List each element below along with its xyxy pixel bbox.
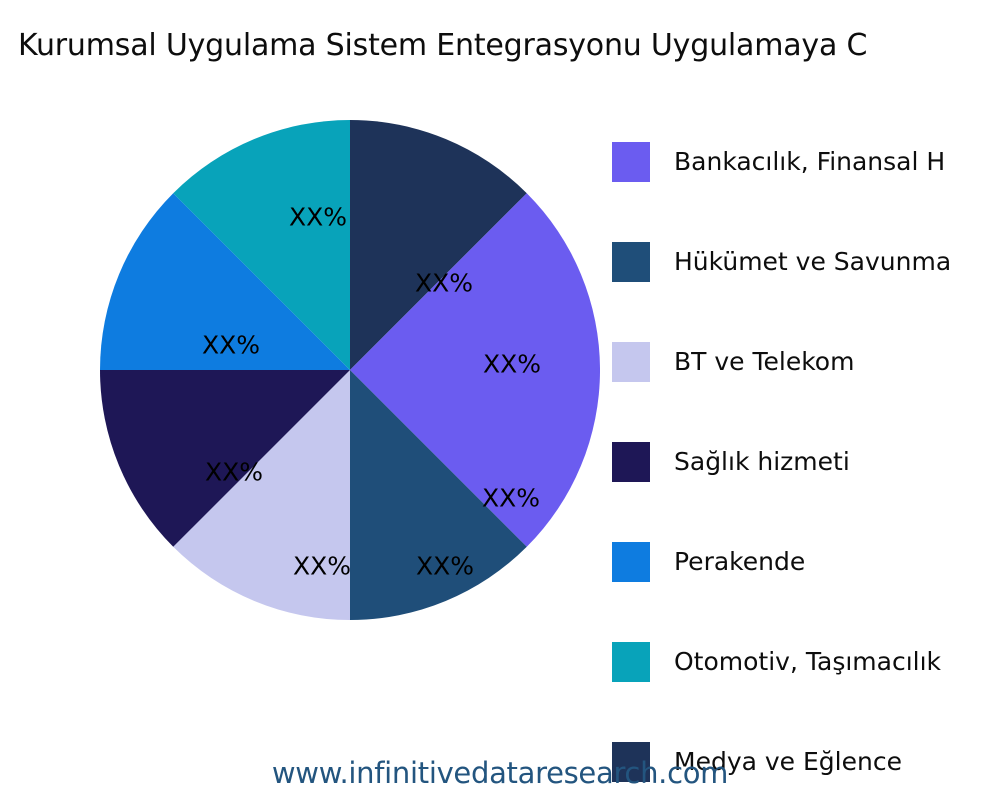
legend-item[interactable]: Otomotiv, Taşımacılık <box>612 612 1000 712</box>
chart-legend: Bankacılık, Finansal HHükümet ve Savunma… <box>612 112 1000 812</box>
footer-watermark-url: www.infinitivedataresearch.com <box>0 756 1000 790</box>
legend-swatch-bankacilik <box>612 142 650 182</box>
pie-slice-percent-label: XX% <box>416 552 474 581</box>
legend-swatch-saglik <box>612 442 650 482</box>
legend-item-label: Perakende <box>674 547 805 577</box>
legend-item-label: Bankacılık, Finansal H <box>674 147 945 177</box>
legend-swatch-perakende <box>612 542 650 582</box>
pie-chart-svg: XX%XX%XX%XX%XX%XX%XX%XX% <box>100 120 600 620</box>
pie-slice-percent-label: XX% <box>483 350 541 379</box>
pie-slice-percent-label: XX% <box>293 552 351 581</box>
legend-item[interactable]: BT ve Telekom <box>612 312 1000 412</box>
legend-item[interactable]: Perakende <box>612 512 1000 612</box>
legend-swatch-bt <box>612 342 650 382</box>
legend-item-label: Otomotiv, Taşımacılık <box>674 647 941 677</box>
legend-swatch-hukumet <box>612 242 650 282</box>
legend-item[interactable]: Bankacılık, Finansal H <box>612 112 1000 212</box>
page-title: Kurumsal Uygulama Sistem Entegrasyonu Uy… <box>18 26 1000 66</box>
pie-slice-percent-label: XX% <box>205 458 263 487</box>
pie-slice-percent-label: XX% <box>289 203 347 232</box>
legend-item[interactable]: Sağlık hizmeti <box>612 412 1000 512</box>
legend-item-label: Hükümet ve Savunma <box>674 247 951 277</box>
pie-chart: XX%XX%XX%XX%XX%XX%XX%XX% <box>100 120 600 620</box>
legend-item-label: Sağlık hizmeti <box>674 447 850 477</box>
legend-item[interactable]: Hükümet ve Savunma <box>612 212 1000 312</box>
pie-slice-percent-label: XX% <box>202 331 260 360</box>
legend-swatch-otomotiv <box>612 642 650 682</box>
legend-item-label: BT ve Telekom <box>674 347 854 377</box>
pie-slice-percent-label: XX% <box>482 484 540 513</box>
pie-slice-percent-label: XX% <box>415 269 473 298</box>
